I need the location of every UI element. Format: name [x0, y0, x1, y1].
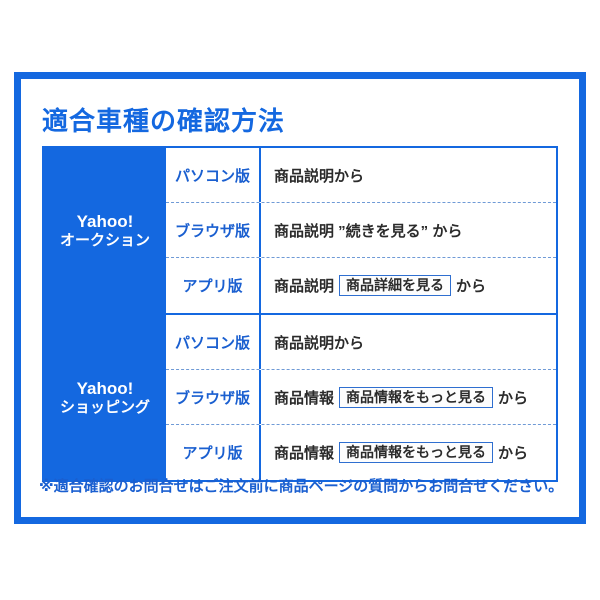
instruction-text-pre: 商品説明から: [274, 332, 364, 353]
instruction-text-pre: 商品説明 ”続きを見る” から: [274, 220, 462, 241]
brand-name-line1: Yahoo!: [77, 379, 134, 399]
brand-cell-auction: Yahoo! オークション: [44, 148, 166, 313]
instruction-cell: 商品情報 商品情報をもっと見る から: [261, 370, 556, 424]
platform-label: アプリ版: [166, 425, 261, 480]
instruction-text-pre: 商品情報: [274, 387, 334, 408]
instruction-text-post: から: [498, 442, 528, 463]
compatibility-table: Yahoo! オークション パソコン版 商品説明から ブラウザ版: [42, 146, 558, 482]
instruction-text-post: から: [456, 275, 486, 296]
table-row: パソコン版 商品説明から: [166, 315, 556, 370]
ui-button-reference[interactable]: 商品詳細を見る: [339, 275, 451, 296]
instruction-text-pre: 商品情報: [274, 442, 334, 463]
platform-label: アプリ版: [166, 258, 261, 313]
instruction-cell: 商品説明から: [261, 148, 556, 202]
brand-name-line2: オークション: [60, 232, 150, 250]
footer-note: ※適合確認のお問合せはご注文前に商品ページの質問からお問合せください。: [39, 475, 563, 496]
page-title: 適合車種の確認方法: [42, 101, 285, 138]
instruction-cell: 商品説明 商品詳細を見る から: [261, 258, 556, 313]
instruction-text-pre: 商品説明から: [274, 165, 364, 186]
ui-button-reference[interactable]: 商品情報をもっと見る: [339, 387, 493, 408]
table-row: アプリ版 商品説明 商品詳細を見る から: [166, 258, 556, 313]
platform-label: パソコン版: [166, 315, 261, 369]
table-section-shopping: Yahoo! ショッピング パソコン版 商品説明から ブラウザ版: [44, 315, 556, 480]
row-group-shopping: パソコン版 商品説明から ブラウザ版 商品情報 商品情報をもっと見る から: [166, 315, 556, 480]
brand-cell-shopping: Yahoo! ショッピング: [44, 315, 166, 480]
instruction-text-post: から: [498, 387, 528, 408]
platform-label: パソコン版: [166, 148, 261, 202]
table-section-auction: Yahoo! オークション パソコン版 商品説明から ブラウザ版: [44, 148, 556, 315]
instruction-cell: 商品説明から: [261, 315, 556, 369]
row-group-auction: パソコン版 商品説明から ブラウザ版 商品説明 ”続きを見る” から: [166, 148, 556, 313]
table-row: ブラウザ版 商品説明 ”続きを見る” から: [166, 203, 556, 258]
platform-label: ブラウザ版: [166, 203, 261, 257]
brand-name-line1: Yahoo!: [77, 212, 134, 232]
brand-name-line2: ショッピング: [60, 399, 150, 417]
ui-button-reference[interactable]: 商品情報をもっと見る: [339, 442, 493, 463]
info-card-panel: 適合車種の確認方法 Yahoo! オークション パソコン版 商品説明から: [21, 79, 579, 517]
instruction-cell: 商品情報 商品情報をもっと見る から: [261, 425, 556, 480]
platform-label: ブラウザ版: [166, 370, 261, 424]
instruction-text-pre: 商品説明: [274, 275, 334, 296]
table-row: パソコン版 商品説明から: [166, 148, 556, 203]
table-row: ブラウザ版 商品情報 商品情報をもっと見る から: [166, 370, 556, 425]
info-card-frame: 適合車種の確認方法 Yahoo! オークション パソコン版 商品説明から: [14, 72, 586, 524]
instruction-cell: 商品説明 ”続きを見る” から: [261, 203, 556, 257]
table-row: アプリ版 商品情報 商品情報をもっと見る から: [166, 425, 556, 480]
